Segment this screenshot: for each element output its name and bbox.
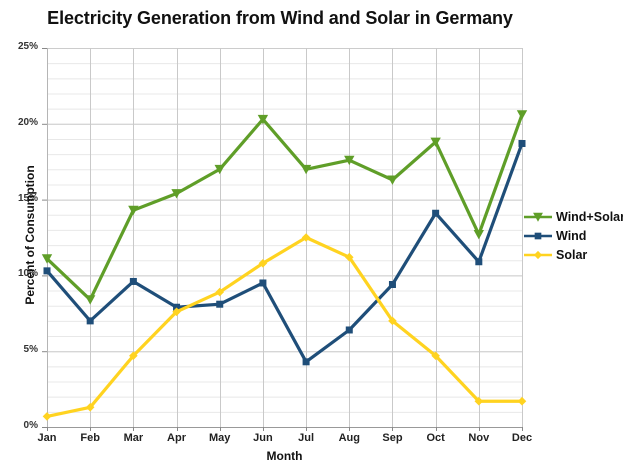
series-wind [44, 140, 526, 365]
legend-marker-icon [523, 247, 553, 263]
data-point [518, 397, 527, 406]
y-axis-title: Percent of Consumption [23, 115, 37, 355]
data-point [346, 326, 353, 333]
data-point [44, 267, 51, 274]
data-point [259, 279, 266, 286]
x-tick-label: Feb [67, 432, 113, 444]
legend-marker-icon [523, 228, 553, 244]
x-tick-label: May [197, 432, 243, 444]
data-series-layer [42, 110, 527, 420]
x-tick-label: Oct [413, 432, 459, 444]
legend-label: Wind+Solar [556, 210, 623, 224]
y-tick-label: 25% [0, 41, 38, 52]
data-point [216, 301, 223, 308]
series-solar [43, 233, 527, 420]
data-point [303, 358, 310, 365]
data-point [130, 278, 137, 285]
legend-item[interactable]: Wind+Solar [523, 207, 623, 226]
data-point [519, 140, 526, 147]
data-point [85, 295, 95, 304]
legend-label: Solar [556, 248, 587, 262]
data-point [387, 175, 397, 184]
data-point [475, 258, 482, 265]
x-tick-label: Apr [154, 432, 200, 444]
x-tick-label: Jun [240, 432, 286, 444]
x-tick-label: Nov [456, 432, 502, 444]
data-point [474, 230, 484, 239]
legend-marker-icon [523, 209, 553, 225]
x-axis-title: Month [47, 449, 522, 463]
legend-label: Wind [556, 229, 586, 243]
data-point [389, 281, 396, 288]
x-tick-label: Jul [283, 432, 329, 444]
chart-container: Electricity Generation from Wind and Sol… [0, 0, 623, 467]
y-tick-label: 0% [0, 420, 38, 431]
x-tick-label: Sep [369, 432, 415, 444]
chart-legend: Wind+SolarWindSolar [523, 207, 623, 264]
x-tick-label: Aug [326, 432, 372, 444]
data-point [432, 210, 439, 217]
x-tick-label: Dec [499, 432, 545, 444]
x-tick-label: Mar [110, 432, 156, 444]
data-point [517, 110, 527, 119]
x-tick-label: Jan [24, 432, 70, 444]
legend-item[interactable]: Solar [523, 245, 623, 264]
data-point [43, 412, 52, 421]
data-point [87, 317, 94, 324]
legend-item[interactable]: Wind [523, 226, 623, 245]
